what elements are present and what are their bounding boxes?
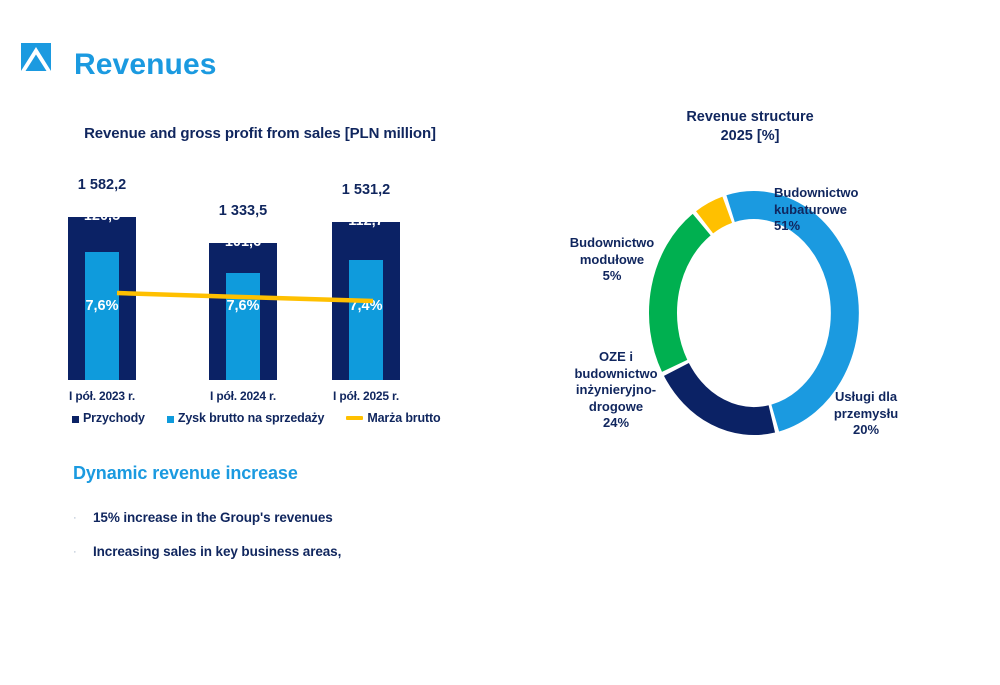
bar-label-margin-2023: 7,6% bbox=[52, 298, 152, 314]
bar-category-2024: I pół. 2024 r. bbox=[188, 389, 298, 403]
bar-group-2023: 1 582,2 120,5 7,6% I pół. 2023 r. bbox=[68, 155, 136, 380]
bar-label-gross-profit-2025: 112,7 bbox=[316, 213, 416, 229]
donut-segment-kubaturowe[interactable] bbox=[731, 205, 845, 418]
legend-line-icon bbox=[346, 416, 363, 420]
summary-bullet-list: · 15% increase in the Group's revenues ·… bbox=[73, 509, 493, 577]
bar-label-margin-2024: 7,6% bbox=[193, 298, 293, 314]
bullet-text: Increasing sales in key business areas, bbox=[93, 543, 341, 561]
logo-mark bbox=[21, 43, 51, 71]
donut-label-budownictwo-modulowe: Budownictwo modułowe 5% bbox=[548, 235, 676, 285]
bar-group-2025: 1 531,2 112,7 7,4% I pół. 2025 r. bbox=[332, 155, 400, 380]
bar-label-gross-profit-2024: 101,6 bbox=[193, 234, 293, 250]
bar-gross-profit-2023[interactable] bbox=[85, 252, 119, 380]
bar-chart-title: Revenue and gross profit from sales [PLN… bbox=[60, 125, 460, 142]
legend-label: Zysk brutto na sprzedaży bbox=[178, 411, 324, 425]
donut-chart-title: Revenue structure 2025 [%] bbox=[600, 108, 900, 146]
legend-item-przychody[interactable]: Przychody bbox=[72, 411, 145, 425]
list-item: · Increasing sales in key business areas… bbox=[73, 543, 493, 561]
bar-label-gross-profit-2023: 120,5 bbox=[52, 208, 152, 224]
bar-label-revenue-2024: 1 333,5 bbox=[193, 203, 293, 219]
page-title: Revenues bbox=[74, 48, 217, 82]
bar-chart-legend: Przychody Zysk brutto na sprzedaży Marża… bbox=[72, 411, 441, 425]
legend-label: Marża brutto bbox=[367, 411, 440, 425]
donut-label-kubaturowe: Budownictwo kubaturowe 51% bbox=[774, 185, 859, 235]
donut-segment-przemysl[interactable] bbox=[676, 369, 771, 421]
bullet-dot-icon: · bbox=[73, 543, 79, 561]
legend-swatch-icon bbox=[72, 416, 79, 423]
bar-label-revenue-2023: 1 582,2 bbox=[52, 177, 152, 193]
legend-item-marza-brutto[interactable]: Marża brutto bbox=[346, 411, 440, 425]
donut-segment-modulowe[interactable] bbox=[705, 210, 728, 223]
bar-gross-profit-2025[interactable] bbox=[349, 260, 383, 380]
bullet-text: 15% increase in the Group's revenues bbox=[93, 509, 333, 527]
bar-chart: Revenue and gross profit from sales [PLN… bbox=[60, 125, 460, 435]
bar-label-margin-2025: 7,4% bbox=[316, 298, 416, 314]
legend-swatch-icon bbox=[167, 416, 174, 423]
donut-label-uslugi-dla-przemyslu: Usługi dla przemysłu 20% bbox=[818, 389, 914, 439]
bullet-dot-icon: · bbox=[73, 509, 79, 527]
slide-root: Revenues Revenue and gross profit from s… bbox=[0, 0, 1000, 685]
legend-label: Przychody bbox=[83, 411, 145, 425]
donut-label-oze-budownictwo: OZE i budownictwo inżynieryjno- drogowe … bbox=[556, 349, 676, 432]
bar-label-revenue-2025: 1 531,2 bbox=[316, 182, 416, 198]
summary-heading: Dynamic revenue increase bbox=[73, 463, 298, 484]
bar-category-2023: I pół. 2023 r. bbox=[47, 389, 157, 403]
donut-chart: Revenue structure 2025 [%] Budownictwo k… bbox=[540, 105, 960, 465]
bar-group-2024: 1 333,5 101,6 7,6% I pół. 2024 r. bbox=[209, 155, 277, 380]
list-item: · 15% increase in the Group's revenues bbox=[73, 509, 493, 527]
bar-category-2025: I pół. 2025 r. bbox=[311, 389, 421, 403]
legend-item-zysk-brutto[interactable]: Zysk brutto na sprzedaży bbox=[167, 411, 324, 425]
bar-gross-profit-2024[interactable] bbox=[226, 273, 260, 380]
